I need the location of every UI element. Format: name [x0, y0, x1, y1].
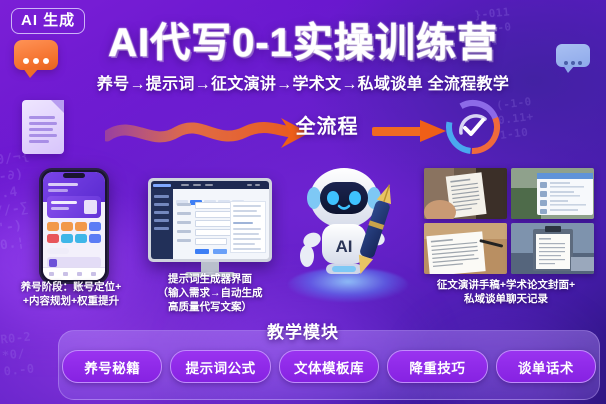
module-pill[interactable]: 提示词公式: [170, 350, 270, 383]
photo-clipboard-laptop: [511, 223, 594, 274]
modules-pill-list: 养号秘籍 提示词公式 文体模板库 降重技巧 谈单话术: [62, 350, 596, 383]
module-pill[interactable]: 养号秘籍: [62, 350, 162, 383]
photo-desk-papers: [424, 223, 507, 274]
phone-mockup: [39, 168, 109, 284]
module-pill[interactable]: 谈单话术: [496, 350, 596, 383]
modules-title: 教学模块: [0, 318, 606, 343]
poster-root: -0/¬{ (-∂) 0.4 //-∑ '-) 0.¦ }-011 ∂ 1-0 …: [0, 0, 606, 404]
caption-line: 养号阶段：账号定位+: [2, 280, 140, 294]
caption-phone: 养号阶段：账号定位+ +内容规划+权重提升: [2, 280, 140, 308]
caption-line: +内容规划+权重提升: [2, 294, 140, 308]
caption-photos: 征文演讲手稿+学术论文封面+ 私域谈单聊天记录: [408, 278, 604, 306]
app-topbar: [151, 181, 269, 189]
phone-icon-grid: [47, 222, 101, 243]
caption-line: （输入需求→自动生成: [144, 286, 276, 300]
phone-banner-card: [47, 196, 101, 218]
arrow-right-icon: [372, 118, 450, 144]
caption-line: 提示词生成器界面: [144, 272, 276, 286]
photo-handwritten-manuscript: [424, 168, 507, 219]
module-pill[interactable]: 降重技巧: [387, 350, 487, 383]
progress-ring-check-icon: [443, 97, 503, 157]
photo-grid: [424, 168, 594, 274]
monitor-bezel: [148, 178, 272, 262]
monitor-mockup: [148, 178, 272, 262]
robot-chest-label: AI: [336, 237, 353, 256]
app-content: [173, 189, 269, 259]
module-pill[interactable]: 文体模板库: [279, 350, 379, 383]
caption-line: 征文演讲手稿+学术论文封面+: [408, 278, 604, 292]
page-subtitle: 养号→提示词→征文演讲→学术文→私域谈单 全流程教学: [0, 70, 606, 94]
robot-mascot-icon: AI: [292, 160, 402, 288]
caption-line: 高质量代写文案）: [144, 300, 276, 314]
page-fold: [51, 100, 64, 113]
phone-notch: [63, 173, 85, 178]
caption-line: 私域谈单聊天记录: [408, 292, 604, 306]
page-title: AI代写0-1实操训练营: [0, 20, 606, 66]
phone-screen: [43, 172, 105, 280]
flow-label: 全流程: [282, 110, 372, 139]
monitor-screen: [151, 181, 269, 259]
app-tabs: [176, 192, 266, 197]
caption-monitor: 提示词生成器界面 （输入需求→自动生成 高质量代写文案）: [144, 272, 276, 314]
phone-tabbar: [43, 267, 105, 280]
document-icon: [22, 100, 64, 154]
app-side-panel: [230, 201, 266, 253]
photo-chat-window: [511, 168, 594, 219]
code-watermark: -0/¬{ (-∂) 0.4 //-∑ '-) 0.¦: [0, 148, 43, 255]
app-sidebar: [151, 189, 173, 259]
